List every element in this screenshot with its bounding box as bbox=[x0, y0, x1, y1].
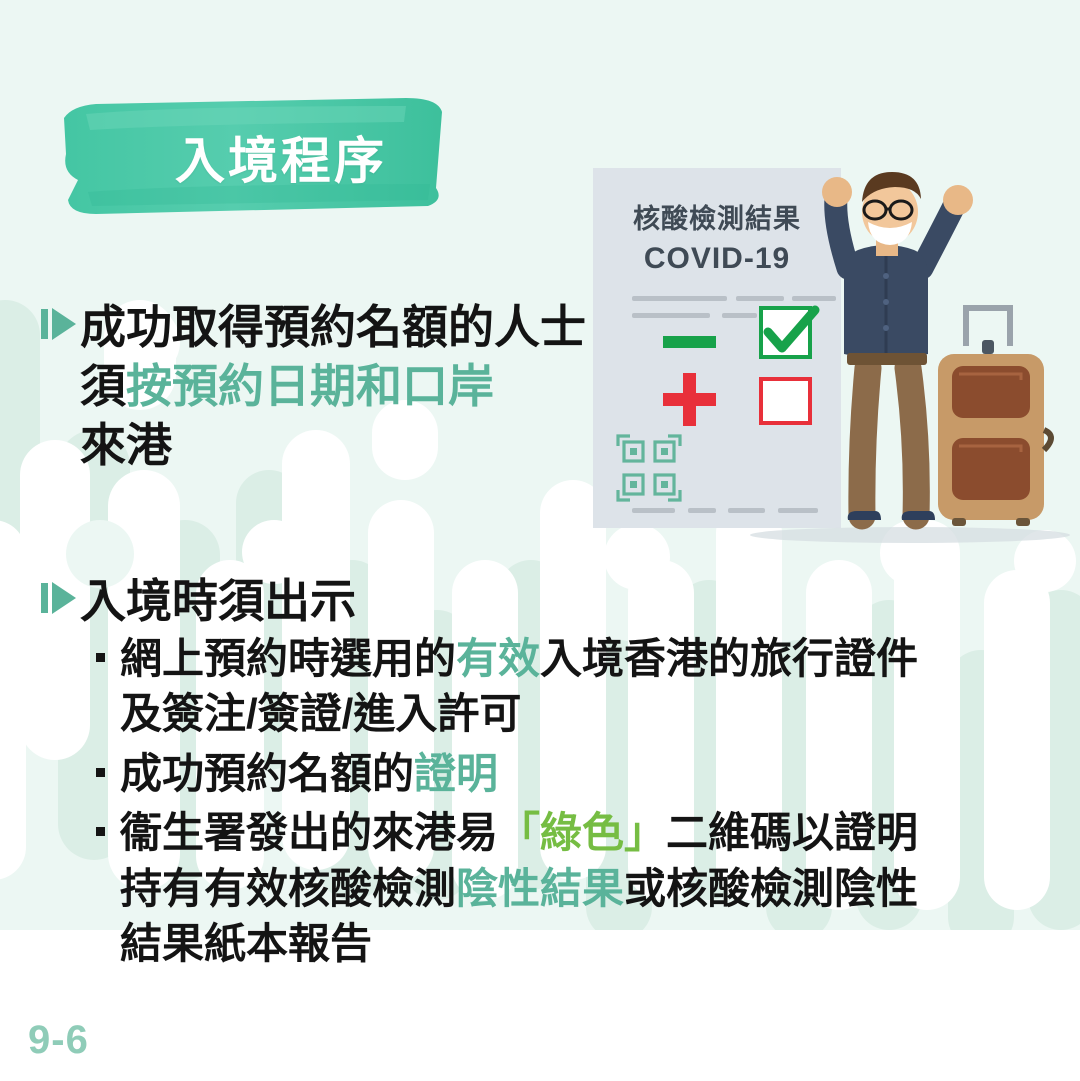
bullet-1-seg: 來港 bbox=[80, 419, 172, 471]
list-seg-highlight: 有效 bbox=[456, 635, 540, 682]
list-item: 衞生署發出的來港易「綠色」二維碼以證明 持有有效核酸檢測陰性結果或核酸檢測陰性 … bbox=[80, 805, 1068, 971]
list-seg: 及簽注/簽證/進入許可 bbox=[120, 690, 521, 737]
list-seg-highlight: 證明 bbox=[414, 750, 498, 797]
square-bullet-icon bbox=[80, 805, 120, 836]
list-item-text: 網上預約時選用的有效入境香港的旅行證件 及簽注/簽證/進入許可 bbox=[120, 631, 918, 742]
page-number: 9-6 bbox=[28, 1018, 89, 1063]
poster-root: 核酸檢測結果 COVID-19 bbox=[0, 0, 1080, 1081]
list-item-line: 結果紙本報告 bbox=[120, 916, 918, 971]
bullet-1-line-2: 須按預約日期和口岸 bbox=[80, 357, 586, 416]
list-item-line: 衞生署發出的來港易「綠色」二維碼以證明 bbox=[120, 805, 918, 860]
bullet-1-text: 成功取得預約名額的人士 須按預約日期和口岸 來港 bbox=[80, 298, 586, 475]
bullet-2-heading: 入境時須出示 bbox=[80, 572, 1068, 631]
list-item-line: 持有有效核酸檢測陰性結果或核酸檢測陰性 bbox=[120, 861, 918, 916]
list-seg: 衞生署發出的來港易 bbox=[120, 809, 498, 856]
list-item: 網上預約時選用的有效入境香港的旅行證件 及簽注/簽證/進入許可 bbox=[80, 631, 1068, 742]
square-bullet-icon bbox=[80, 746, 120, 777]
list-seg-highlight: 陰性結果 bbox=[456, 865, 624, 912]
list-item-line: 及簽注/簽證/進入許可 bbox=[120, 686, 918, 741]
list-seg: 二維碼以證明 bbox=[666, 809, 918, 856]
bullet-1-seg: 須 bbox=[80, 360, 126, 412]
bullet-block-1: 成功取得預約名額的人士 須按預約日期和口岸 來港 bbox=[38, 298, 638, 475]
list-item-line: 網上預約時選用的有效入境香港的旅行證件 bbox=[120, 631, 918, 686]
bullet-1-line-3: 來港 bbox=[80, 416, 586, 475]
bullet-1-line-1: 成功取得預約名額的人士 bbox=[80, 298, 586, 357]
bullet-block-2: 入境時須出示 網上預約時選用的有效入境香港的旅行證件 及簽注/簽證/進入許可 bbox=[38, 572, 1068, 976]
list-item: 成功預約名額的證明 bbox=[80, 746, 1068, 801]
triangle-bullet-icon bbox=[38, 576, 80, 622]
list-seg: 結果紙本報告 bbox=[120, 920, 372, 967]
bullet-1-seg-highlight: 按預約日期和口岸 bbox=[126, 360, 494, 412]
requirement-list: 網上預約時選用的有效入境香港的旅行證件 及簽注/簽證/進入許可 bbox=[80, 631, 1068, 972]
list-seg-highlight-green: 「綠色」 bbox=[498, 809, 666, 856]
list-item-line: 成功預約名額的證明 bbox=[120, 746, 498, 801]
list-seg: 或核酸檢測陰性 bbox=[624, 865, 918, 912]
list-seg: 成功預約名額的 bbox=[120, 750, 414, 797]
list-item-text: 成功預約名額的證明 bbox=[120, 746, 498, 801]
list-seg: 網上預約時選用的 bbox=[120, 635, 456, 682]
bullet-1-seg: 成功取得預約名額的人士 bbox=[80, 301, 586, 353]
list-item-text: 衞生署發出的來港易「綠色」二維碼以證明 持有有效核酸檢測陰性結果或核酸檢測陰性 … bbox=[120, 805, 918, 971]
list-seg: 持有有效核酸檢測 bbox=[120, 865, 456, 912]
triangle-bullet-icon bbox=[38, 302, 80, 348]
square-bullet-icon bbox=[80, 631, 120, 662]
content-area: 成功取得預約名額的人士 須按預約日期和口岸 來港 入境時須出示 bbox=[0, 0, 1080, 1081]
list-seg: 入境香港的旅行證件 bbox=[540, 635, 918, 682]
